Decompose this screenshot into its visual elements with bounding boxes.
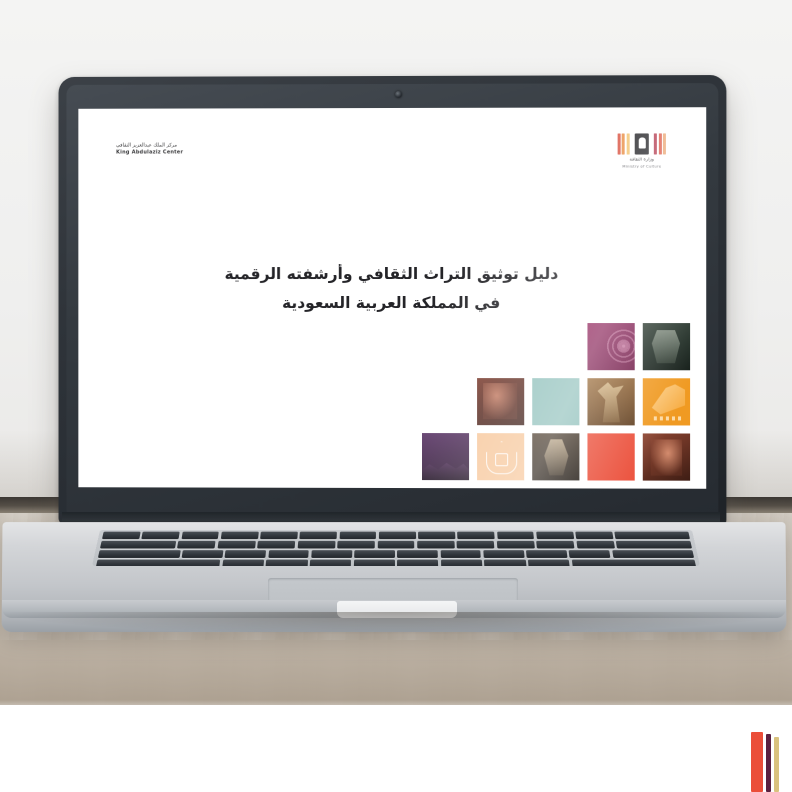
- tile-orange-badge: [643, 378, 690, 425]
- key[interactable]: [379, 532, 416, 540]
- key[interactable]: [377, 541, 414, 549]
- slide-title-line1: دليل توثيق التراث الثقافي وأرشفته الرقمي…: [78, 260, 706, 289]
- tile-empty: [422, 378, 469, 425]
- key[interactable]: [457, 541, 495, 549]
- tile-dark-green-artifact: [643, 323, 690, 370]
- key[interactable]: [310, 560, 351, 566]
- tile-peach-icon: [477, 433, 524, 480]
- key[interactable]: [300, 532, 337, 540]
- key[interactable]: [142, 532, 180, 540]
- tile-purple-landscape: [422, 433, 469, 480]
- key[interactable]: [337, 541, 375, 549]
- keyboard-row: [92, 560, 700, 566]
- key[interactable]: [528, 560, 570, 566]
- tile-red-brown-portrait: [643, 433, 690, 480]
- tile-brown-red-portrait: [477, 378, 524, 425]
- key[interactable]: [311, 550, 352, 558]
- key[interactable]: [397, 560, 438, 566]
- tile-red-solid: [587, 433, 634, 480]
- left-logo-line2: King Abdulaziz Center: [116, 150, 220, 157]
- webcam-icon: [395, 91, 402, 98]
- key-shift[interactable]: [572, 560, 697, 566]
- tile-teal-solid: [532, 378, 579, 425]
- logo-stripe-bars: [608, 133, 676, 154]
- slide-title-line2: في المملكة العربية السعودية: [78, 289, 706, 318]
- key[interactable]: [98, 550, 180, 558]
- ministry-name-english: Ministry of Culture: [608, 163, 676, 168]
- tile-tan-heritage: [587, 378, 634, 425]
- bottom-white-strip: [0, 705, 792, 792]
- slide-title: دليل توثيق التراث الثقافي وأرشفته الرقمي…: [78, 260, 706, 318]
- ministry-logo-text: وزارة الثقافة Ministry of Culture: [608, 157, 676, 168]
- key-enter[interactable]: [612, 550, 694, 558]
- ministry-of-culture-logo: وزارة الثقافة Ministry of Culture: [608, 133, 676, 168]
- tile-magenta-pattern: [587, 323, 634, 370]
- laptop-screen[interactable]: مركز الملك عبدالعزيز الثقافي King Abdula…: [78, 107, 706, 489]
- key[interactable]: [616, 541, 692, 549]
- key[interactable]: [483, 550, 524, 558]
- mosaic-row: [422, 433, 690, 481]
- key[interactable]: [222, 560, 264, 566]
- key[interactable]: [260, 532, 298, 540]
- mosaic-row: [422, 378, 690, 425]
- key[interactable]: [576, 541, 614, 549]
- key[interactable]: [457, 532, 494, 540]
- tile-empty: [422, 323, 469, 370]
- tile-empty: [532, 323, 579, 370]
- logo-emblem-icon: [635, 133, 649, 154]
- laptop-drop-shadow: [10, 612, 780, 634]
- tile-empty: [477, 323, 524, 370]
- key[interactable]: [102, 532, 140, 540]
- key[interactable]: [397, 550, 438, 558]
- key[interactable]: [569, 550, 611, 558]
- keyboard-row: [94, 550, 698, 558]
- mosaic-row: [422, 323, 690, 370]
- key[interactable]: [182, 550, 224, 558]
- key-shift[interactable]: [96, 560, 221, 566]
- key[interactable]: [221, 532, 259, 540]
- key[interactable]: [615, 532, 690, 540]
- key[interactable]: [417, 541, 455, 549]
- key[interactable]: [268, 550, 309, 558]
- key[interactable]: [418, 532, 455, 540]
- keyboard-row: [96, 541, 696, 549]
- key[interactable]: [353, 560, 394, 566]
- laptop-bezel: مركز الملك عبدالعزيز الثقافي King Abdula…: [66, 83, 718, 517]
- presentation-slide[interactable]: مركز الملك عبدالعزيز الثقافي King Abdula…: [78, 107, 706, 489]
- key[interactable]: [266, 560, 308, 566]
- key[interactable]: [536, 532, 574, 540]
- key[interactable]: [225, 550, 266, 558]
- key[interactable]: [497, 532, 535, 540]
- scene: مركز الملك عبدالعزيز الثقافي King Abdula…: [0, 0, 792, 792]
- key[interactable]: [100, 541, 176, 549]
- key[interactable]: [526, 550, 567, 558]
- key[interactable]: [536, 541, 574, 549]
- key[interactable]: [181, 532, 219, 540]
- key[interactable]: [297, 541, 335, 549]
- keyboard-row: [98, 532, 694, 540]
- key[interactable]: [440, 550, 481, 558]
- key[interactable]: [575, 532, 613, 540]
- slide-left-logo: مركز الملك عبدالعزيز الثقافي King Abdula…: [116, 142, 220, 157]
- laptop-lid: مركز الملك عبدالعزيز الثقافي King Abdula…: [59, 75, 727, 527]
- key[interactable]: [484, 560, 526, 566]
- ministry-name-arabic: وزارة الثقافة: [608, 157, 676, 162]
- laptop: مركز الملك عبدالعزيز الثقافي King Abdula…: [0, 0, 792, 640]
- key[interactable]: [339, 532, 376, 540]
- keyboard[interactable]: [92, 530, 700, 566]
- key[interactable]: [441, 560, 482, 566]
- key[interactable]: [497, 541, 535, 549]
- key[interactable]: [177, 541, 215, 549]
- image-mosaic: [422, 323, 690, 481]
- tile-dark-brown-artifact: [532, 433, 579, 480]
- brand-stripe-mark: [751, 720, 792, 792]
- key[interactable]: [257, 541, 295, 549]
- key[interactable]: [217, 541, 255, 549]
- key[interactable]: [354, 550, 395, 558]
